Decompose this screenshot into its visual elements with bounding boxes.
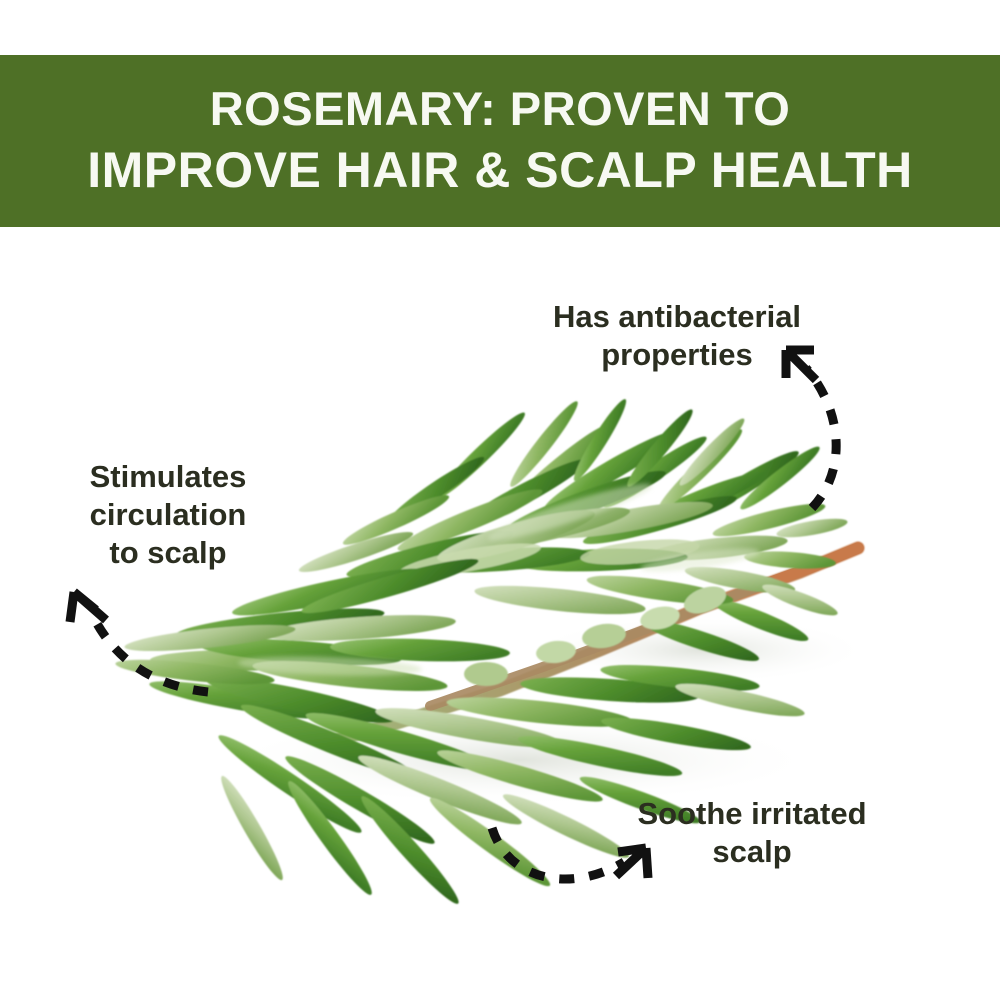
header-title-line-1: ROSEMARY: PROVEN TO xyxy=(210,80,791,139)
callout-circulation-label: Stimulates circulation to scalp xyxy=(46,458,290,571)
arrow-antibacterial xyxy=(786,350,836,508)
header-banner: ROSEMARY: PROVEN TO IMPROVE HAIR & SCALP… xyxy=(0,55,1000,227)
infographic-page: Has antibacterial properties Stimulates … xyxy=(0,0,1000,1000)
arrow-circulation xyxy=(70,592,208,692)
callout-antibacterial-label: Has antibacterial properties xyxy=(497,298,857,374)
header-title-line-2: IMPROVE HAIR & SCALP HEALTH xyxy=(87,139,913,202)
callout-soothe-label: Soothe irritated scalp xyxy=(592,795,912,871)
